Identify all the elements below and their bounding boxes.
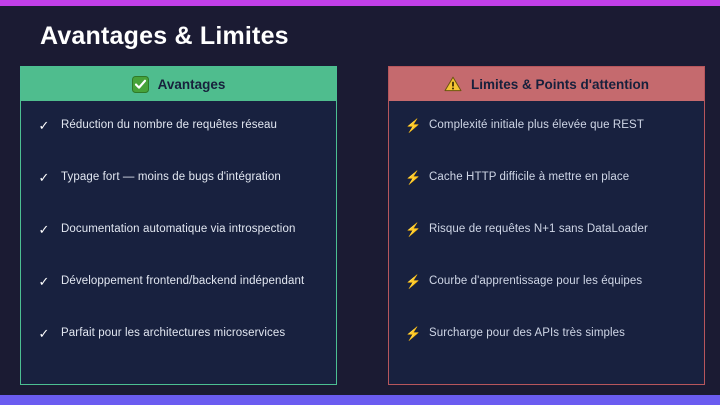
advantages-list: ✓ Réduction du nombre de requêtes réseau… xyxy=(21,101,336,384)
lightning-bolt-icon: ⚡ xyxy=(405,169,419,186)
check-icon: ✓ xyxy=(37,169,51,186)
list-item-label: Typage fort — moins de bugs d'intégratio… xyxy=(61,169,281,186)
list-item: ⚡ Risque de requêtes N+1 sans DataLoader xyxy=(389,221,704,273)
list-item: ✓ Développement frontend/backend indépen… xyxy=(21,273,336,325)
bottom-accent-bar xyxy=(0,395,720,405)
list-item-label: Développement frontend/backend indépenda… xyxy=(61,273,304,290)
list-item: ⚡ Surcharge pour des APIs très simples xyxy=(389,325,704,377)
limits-list: ⚡ Complexité initiale plus élevée que RE… xyxy=(389,101,704,384)
page-title: Avantages & Limites xyxy=(40,22,289,51)
list-item-label: Complexité initiale plus élevée que REST xyxy=(429,117,644,134)
check-icon: ✓ xyxy=(37,117,51,134)
list-item: ⚡ Courbe d'apprentissage pour les équipe… xyxy=(389,273,704,325)
check-icon: ✓ xyxy=(37,273,51,290)
advantages-panel-header-label: Avantages xyxy=(158,77,226,92)
list-item: ⚡ Cache HTTP difficile à mettre en place xyxy=(389,169,704,221)
list-item-label: Parfait pour les architectures microserv… xyxy=(61,325,285,342)
advantages-panel: Avantages ✓ Réduction du nombre de requê… xyxy=(20,66,337,385)
list-item: ✓ Parfait pour les architectures microse… xyxy=(21,325,336,377)
check-icon: ✓ xyxy=(37,325,51,342)
list-item: ✓ Documentation automatique via introspe… xyxy=(21,221,336,273)
list-item: ✓ Typage fort — moins de bugs d'intégrat… xyxy=(21,169,336,221)
top-accent-bar xyxy=(0,0,720,6)
list-item-label: Cache HTTP difficile à mettre en place xyxy=(429,169,629,186)
lightning-bolt-icon: ⚡ xyxy=(405,117,419,134)
lightning-bolt-icon: ⚡ xyxy=(405,273,419,290)
list-item: ⚡ Complexité initiale plus élevée que RE… xyxy=(389,117,704,169)
list-item-label: Documentation automatique via introspect… xyxy=(61,221,295,238)
list-item-label: Surcharge pour des APIs très simples xyxy=(429,325,625,342)
warning-triangle-icon xyxy=(444,76,462,92)
limits-panel: Limites & Points d'attention ⚡ Complexit… xyxy=(388,66,705,385)
white-check-mark-icon xyxy=(132,76,149,93)
list-item-label: Réduction du nombre de requêtes réseau xyxy=(61,117,277,134)
lightning-bolt-icon: ⚡ xyxy=(405,221,419,238)
advantages-panel-header: Avantages xyxy=(21,67,336,101)
lightning-bolt-icon: ⚡ xyxy=(405,325,419,342)
limits-panel-header: Limites & Points d'attention xyxy=(389,67,704,101)
list-item-label: Risque de requêtes N+1 sans DataLoader xyxy=(429,221,648,238)
limits-panel-header-label: Limites & Points d'attention xyxy=(471,77,649,92)
check-icon: ✓ xyxy=(37,221,51,238)
list-item-label: Courbe d'apprentissage pour les équipes xyxy=(429,273,642,290)
list-item: ✓ Réduction du nombre de requêtes réseau xyxy=(21,117,336,169)
